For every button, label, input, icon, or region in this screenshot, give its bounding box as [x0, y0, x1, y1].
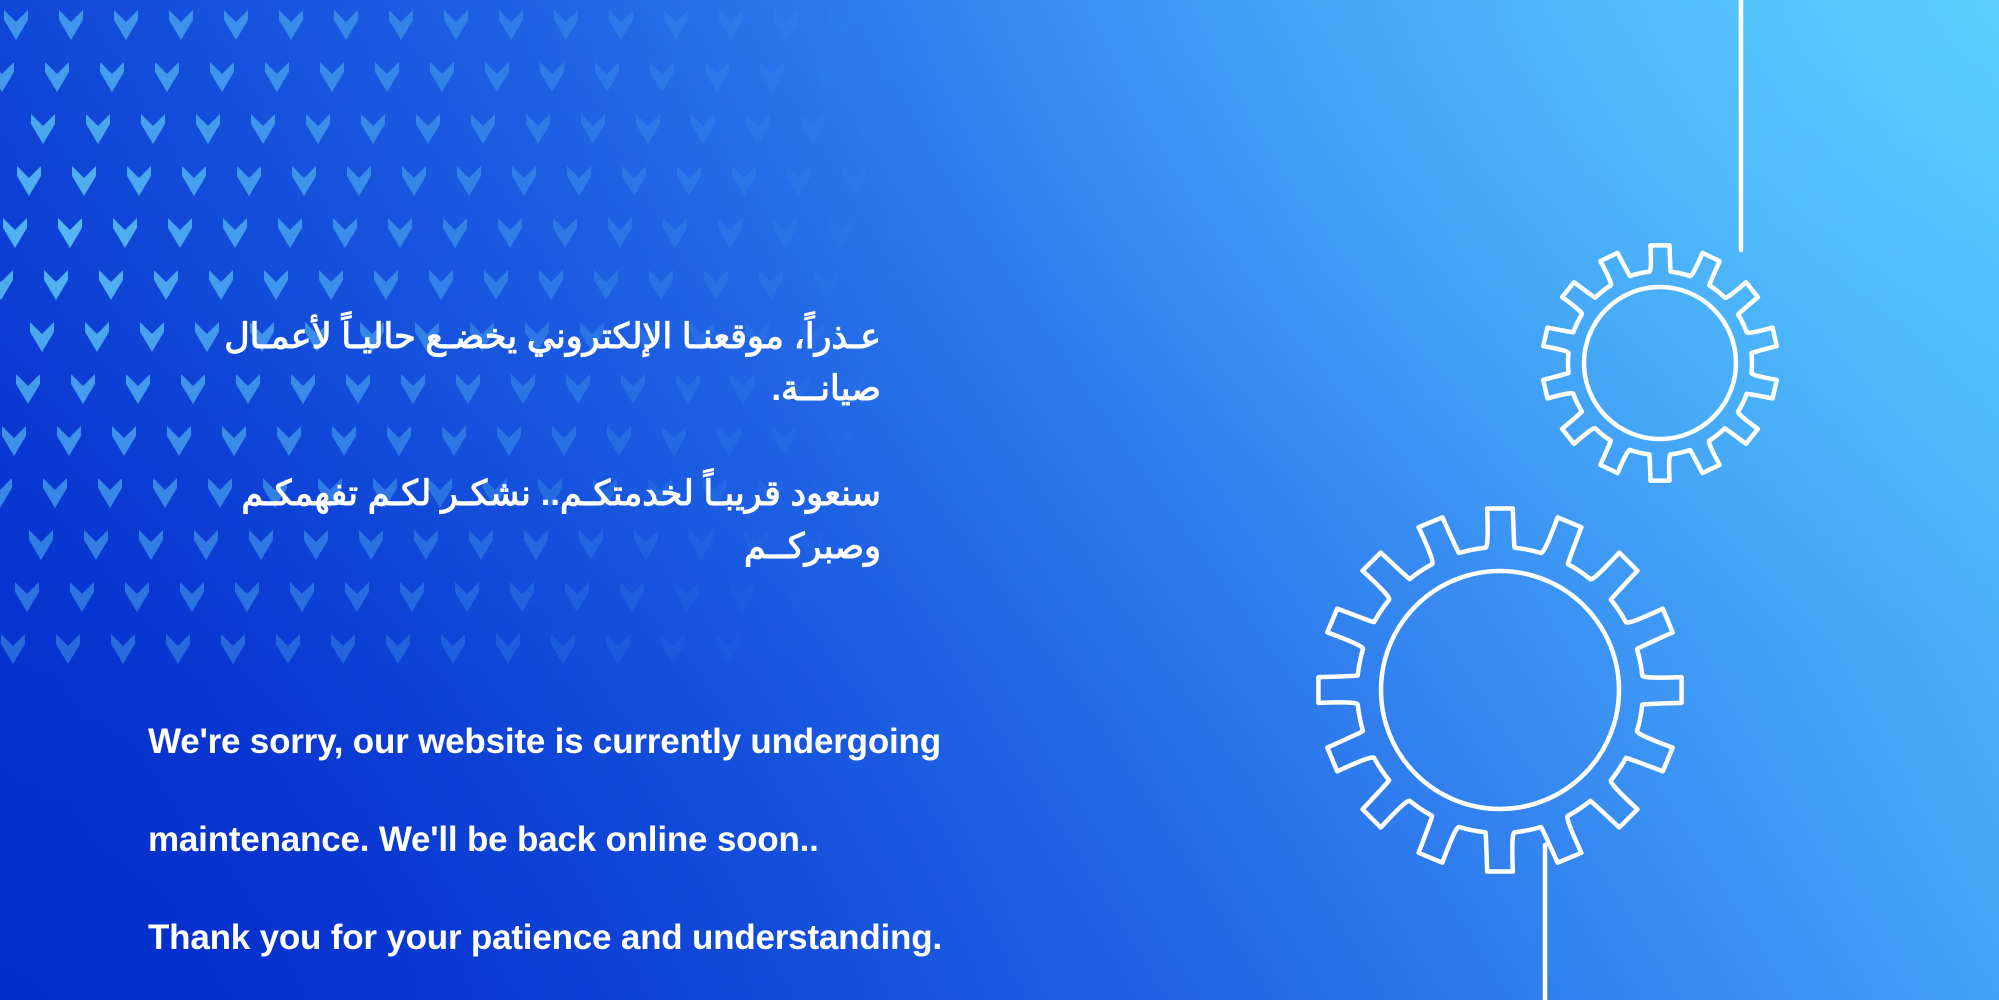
- maintenance-page: عـذراً، موقعنـا الإلكتروني يخضـع حاليـاً…: [0, 0, 1999, 1000]
- text-block: عـذراً، موقعنـا الإلكتروني يخضـع حاليـاً…: [148, 258, 1048, 1000]
- message-content: عـذراً، موقعنـا الإلكتروني يخضـع حاليـاً…: [0, 0, 1999, 1000]
- english-line-3: Thank you for your patience and understa…: [148, 913, 1048, 962]
- english-message: We're sorry, our website is currently un…: [148, 668, 1048, 1000]
- arabic-line-1: عـذراً، موقعنـا الإلكتروني يخضـع حاليـاً…: [148, 311, 881, 416]
- arabic-message: عـذراً، موقعنـا الإلكتروني يخضـع حاليـاً…: [148, 258, 881, 626]
- english-line-2: maintenance. We'll be back online soon..: [148, 815, 1048, 864]
- english-line-1: We're sorry, our website is currently un…: [148, 717, 1048, 766]
- arabic-line-2: سنعود قريبـاً لخدمتكـم.. نشكـر لكـم تفهم…: [148, 468, 881, 573]
